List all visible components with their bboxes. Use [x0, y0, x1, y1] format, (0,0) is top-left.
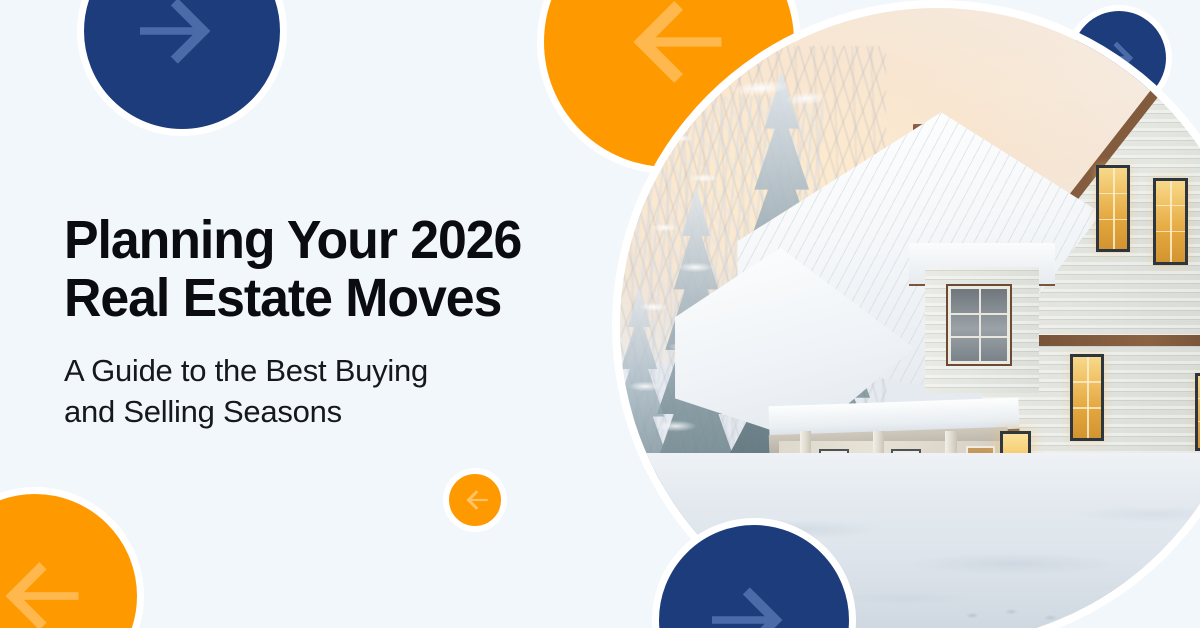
arrow-right-icon [698, 564, 810, 628]
page-title: Planning Your 2026 Real Estate Moves [64, 212, 582, 328]
top-left-navy-circle [77, 0, 287, 136]
lit-window [1153, 178, 1187, 265]
arrow-right-icon [126, 0, 238, 87]
snowy-branch [654, 18, 865, 137]
page-subtitle: A Guide to the Best Buying and Selling S… [64, 350, 604, 433]
dormer-window [948, 286, 1010, 363]
footprints-in-snow [950, 606, 1200, 625]
center-small-orange-circle [443, 468, 507, 532]
text-block: Planning Your 2026 Real Estate Moves A G… [64, 212, 604, 433]
arrow-left-icon [0, 538, 93, 628]
lit-window [1070, 354, 1104, 441]
lit-window [1096, 165, 1130, 252]
bottom-left-orange-circle [0, 487, 144, 628]
banner-canvas: Planning Your 2026 Real Estate Moves A G… [0, 0, 1200, 628]
arrow-left-icon [458, 483, 492, 517]
lit-window [1195, 373, 1200, 450]
